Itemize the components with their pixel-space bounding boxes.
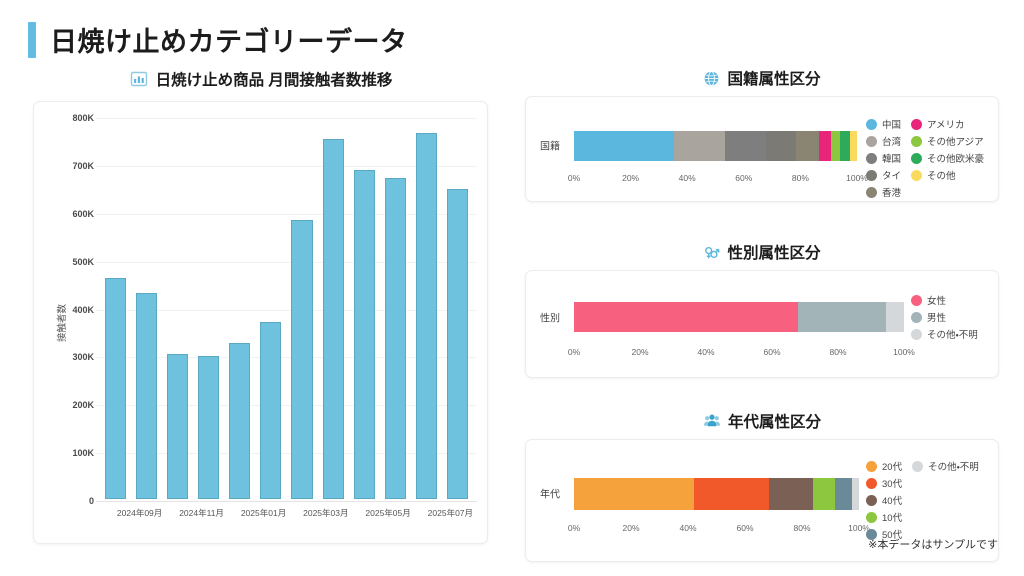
legend-item[interactable]: 男性: [911, 310, 978, 324]
stacked-segment[interactable]: [674, 131, 725, 161]
legend-item[interactable]: 台湾: [866, 134, 901, 148]
legend-item[interactable]: 韓国: [866, 151, 901, 165]
pct-axis-tick: 40%: [679, 173, 696, 183]
bar[interactable]: [416, 133, 437, 499]
stacked-segment[interactable]: [852, 478, 859, 510]
legend-label: アメリカ: [927, 117, 965, 131]
pct-axis-tick: 60%: [735, 173, 752, 183]
age-legend: 20代30代40代10代50代その他・不明: [866, 459, 979, 541]
legend-color-dot: [911, 170, 922, 181]
nationality-legend: 中国台湾韓国タイ香港アメリカその他アジアその他欧米豪その他: [866, 117, 984, 199]
x-axis-tick-label: 2025年05月: [365, 507, 410, 519]
bar-slot: [224, 118, 255, 499]
pct-axis-tick: 100%: [846, 173, 868, 183]
x-axis-tick-label: 2024年11月: [179, 507, 224, 519]
legend-item[interactable]: その他: [911, 168, 984, 182]
legend-label: その他・不明: [928, 459, 979, 473]
gender-stack-row: 性別 0%20%40%60%80%100% 女性男性その他・不明: [526, 271, 998, 377]
pct-axis-tick: 0%: [568, 173, 580, 183]
legend-color-dot: [911, 119, 922, 130]
legend-color-dot: [866, 495, 877, 506]
x-axis-tick-label: [411, 507, 428, 519]
legend-label: 中国: [882, 117, 901, 131]
legend-item[interactable]: アメリカ: [911, 117, 984, 131]
y-axis-tick-label: 0: [54, 496, 94, 506]
legend-label: 10代: [882, 510, 902, 524]
x-axis-ticks: 2024年09月2024年11月2025年01月2025年03月2025年05月…: [96, 507, 477, 519]
legend-label: 香港: [882, 185, 901, 199]
legend-item[interactable]: 40代: [866, 493, 902, 507]
sample-data-footnote: ※本データはサンプルです: [868, 536, 998, 552]
legend-color-dot: [911, 295, 922, 306]
x-axis-tick-label: [348, 507, 365, 519]
legend-column: その他・不明: [912, 459, 979, 541]
pct-axis-tick: 20%: [631, 347, 648, 357]
y-axis-tick-label: 500K: [54, 257, 94, 267]
bar-slot: [380, 118, 411, 499]
bar-slot: [442, 118, 473, 499]
page-header: 日焼け止めカテゴリーデータ: [28, 20, 408, 59]
pct-axis-tick: 60%: [763, 347, 780, 357]
pct-axis-tick: 60%: [736, 523, 753, 533]
age-title: 年代属性区分: [728, 410, 821, 432]
age-category-label: 年代: [540, 486, 560, 501]
nationality-panel: 国籍属性区分 国籍 0%20%40%60%80%100% 中国台湾韓国タイ香港ア…: [512, 66, 1012, 202]
gender-panel: 性別属性区分 性別 0%20%40%60%80%100% 女性男性その他・不明: [512, 240, 1012, 378]
pct-axis-tick: 80%: [792, 173, 809, 183]
stacked-segment[interactable]: [574, 478, 694, 510]
bar[interactable]: [167, 354, 188, 499]
stacked-segment[interactable]: [819, 131, 832, 161]
monthly-contacts-panel: 日焼け止め商品 月間接触者数推移 接触者数 0100K200K300K400K5…: [28, 66, 494, 548]
legend-label: その他・不明: [927, 327, 978, 341]
gender-chart-card: 性別 0%20%40%60%80%100% 女性男性その他・不明: [525, 270, 999, 378]
stacked-segment[interactable]: [850, 131, 857, 161]
x-axis-line: [96, 501, 477, 502]
pct-axis-tick: 0%: [568, 523, 580, 533]
legend-color-dot: [911, 329, 922, 340]
nationality-stacked-bar: [574, 131, 857, 161]
bar[interactable]: [136, 293, 157, 499]
legend-item[interactable]: タイ: [866, 168, 901, 182]
bar-chart-icon: [130, 70, 148, 88]
pct-axis-tick: 80%: [793, 523, 810, 533]
title-accent-bar: [28, 22, 36, 58]
legend-label: 男性: [927, 310, 946, 324]
legend-column: 女性男性その他・不明: [911, 293, 978, 341]
x-axis-tick-label: [100, 507, 117, 519]
legend-color-dot: [866, 461, 877, 472]
age-pct-axis: 0%20%40%60%80%100%: [574, 523, 859, 537]
bar[interactable]: [105, 278, 126, 499]
x-axis-tick-label: [224, 507, 241, 519]
stacked-segment[interactable]: [694, 478, 770, 510]
y-axis-ticks: 0100K200K300K400K500K600K700K800K: [52, 102, 94, 543]
legend-item[interactable]: 20代: [866, 459, 902, 473]
globe-icon: [703, 70, 720, 87]
monthly-contacts-chart-card: 接触者数 0100K200K300K400K500K600K700K800K 2…: [33, 101, 488, 544]
stacked-segment[interactable]: [796, 131, 819, 161]
y-axis-tick-label: 400K: [54, 305, 94, 315]
legend-color-dot: [866, 187, 877, 198]
bar-plot-area: [96, 118, 477, 499]
x-axis-tick-label: [162, 507, 179, 519]
legend-color-dot: [912, 461, 923, 472]
x-axis-tick-label: 2025年01月: [241, 507, 286, 519]
monthly-contacts-plot: 接触者数 0100K200K300K400K500K600K700K800K 2…: [34, 102, 487, 543]
page-title: 日焼け止めカテゴリーデータ: [50, 20, 408, 59]
stacked-segment[interactable]: [574, 131, 674, 161]
nationality-title: 国籍属性区分: [727, 67, 820, 89]
stacked-segment[interactable]: [798, 302, 885, 332]
stacked-segment[interactable]: [725, 131, 766, 161]
legend-column: 中国台湾韓国タイ香港: [866, 117, 901, 199]
stacked-segment[interactable]: [766, 131, 796, 161]
bar[interactable]: [385, 178, 406, 499]
legend-label: その他: [927, 168, 956, 182]
stacked-segment[interactable]: [769, 478, 813, 510]
y-axis-tick-label: 300K: [54, 352, 94, 362]
bar[interactable]: [354, 170, 375, 499]
legend-label: 40代: [882, 493, 902, 507]
age-header: 年代属性区分: [512, 409, 1012, 433]
legend-color-dot: [866, 119, 877, 130]
bar[interactable]: [229, 343, 250, 499]
legend-color-dot: [866, 170, 877, 181]
y-axis-tick-label: 700K: [54, 161, 94, 171]
stacked-segment[interactable]: [831, 131, 839, 161]
legend-item[interactable]: 香港: [866, 185, 901, 199]
bar-slot: [286, 118, 317, 499]
gender-header: 性別属性区分: [512, 240, 1012, 264]
nationality-pct-axis: 0%20%40%60%80%100%: [574, 173, 857, 187]
gender-legend: 女性男性その他・不明: [911, 293, 978, 341]
bar-series: [96, 118, 477, 499]
legend-color-dot: [911, 153, 922, 164]
legend-item[interactable]: 10代: [866, 510, 902, 524]
legend-column: 20代30代40代10代50代: [866, 459, 902, 541]
pct-axis-tick: 40%: [697, 347, 714, 357]
gender-pct-axis: 0%20%40%60%80%100%: [574, 347, 904, 361]
nationality-header: 国籍属性区分: [512, 66, 1012, 90]
bar[interactable]: [291, 220, 312, 499]
legend-item[interactable]: 30代: [866, 476, 902, 490]
nationality-category-label: 国籍: [540, 138, 560, 153]
bar-slot: [318, 118, 349, 499]
y-axis-tick-label: 100K: [54, 448, 94, 458]
bar[interactable]: [447, 189, 468, 499]
legend-color-dot: [866, 512, 877, 523]
age-panel: 年代属性区分 年代 0%20%40%60%80%100% 20代30代40代10…: [512, 409, 1012, 562]
legend-label: その他欧米豪: [927, 151, 984, 165]
legend-item[interactable]: その他アジア: [911, 134, 984, 148]
stacked-segment[interactable]: [886, 302, 904, 332]
bar-slot: [100, 118, 131, 499]
legend-color-dot: [911, 136, 922, 147]
age-stacked-bar: [574, 478, 859, 510]
gender-category-label: 性別: [540, 310, 560, 325]
monthly-contacts-header: 日焼け止め商品 月間接触者数推移: [28, 66, 494, 92]
bar-slot: [349, 118, 380, 499]
bar[interactable]: [323, 139, 344, 499]
y-axis-tick-label: 800K: [54, 113, 94, 123]
y-axis-tick-label: 600K: [54, 209, 94, 219]
legend-label: その他アジア: [927, 134, 984, 148]
bar-slot: [162, 118, 193, 499]
bar[interactable]: [260, 322, 281, 499]
people-icon: [703, 412, 721, 430]
legend-label: 20代: [882, 459, 902, 473]
legend-label: タイ: [882, 168, 901, 182]
pct-axis-tick: 100%: [893, 347, 915, 357]
legend-label: 女性: [927, 293, 946, 307]
pct-axis-tick: 20%: [622, 173, 639, 183]
gender-stacked-bar: [574, 302, 904, 332]
x-axis-tick-label: 2025年07月: [428, 507, 473, 519]
stacked-segment[interactable]: [813, 478, 834, 510]
legend-label: 韓国: [882, 151, 901, 165]
nationality-chart-card: 国籍 0%20%40%60%80%100% 中国台湾韓国タイ香港アメリカその他ア…: [525, 96, 999, 202]
legend-item[interactable]: 女性: [911, 293, 978, 307]
legend-label: 台湾: [882, 134, 901, 148]
legend-label: 30代: [882, 476, 902, 490]
legend-color-dot: [911, 312, 922, 323]
bar-slot: [131, 118, 162, 499]
bar-slot: [255, 118, 286, 499]
pct-axis-tick: 40%: [679, 523, 696, 533]
legend-item[interactable]: その他欧米豪: [911, 151, 984, 165]
legend-color-dot: [866, 478, 877, 489]
pct-axis-tick: 80%: [829, 347, 846, 357]
legend-item[interactable]: 中国: [866, 117, 901, 131]
stacked-segment[interactable]: [840, 131, 850, 161]
pct-axis-tick: 20%: [622, 523, 639, 533]
legend-color-dot: [866, 136, 877, 147]
stacked-segment[interactable]: [574, 302, 798, 332]
legend-color-dot: [866, 153, 877, 164]
stacked-segment[interactable]: [835, 478, 852, 510]
legend-item[interactable]: その他・不明: [911, 327, 978, 341]
gender-icon: [703, 244, 720, 261]
gender-title: 性別属性区分: [727, 241, 820, 263]
x-axis-tick-label: [286, 507, 303, 519]
legend-column: アメリカその他アジアその他欧米豪その他: [911, 117, 984, 199]
pct-axis-tick: 0%: [568, 347, 580, 357]
x-axis-tick-label: 2024年09月: [117, 507, 162, 519]
y-axis-tick-label: 200K: [54, 400, 94, 410]
bar[interactable]: [198, 356, 219, 499]
bar-slot: [193, 118, 224, 499]
nationality-stack-row: 国籍 0%20%40%60%80%100% 中国台湾韓国タイ香港アメリカその他ア…: [526, 97, 998, 201]
monthly-contacts-title: 日焼け止め商品 月間接触者数推移: [156, 68, 393, 90]
legend-item[interactable]: その他・不明: [912, 459, 979, 473]
x-axis-tick-label: 2025年03月: [303, 507, 348, 519]
bar-slot: [411, 118, 442, 499]
